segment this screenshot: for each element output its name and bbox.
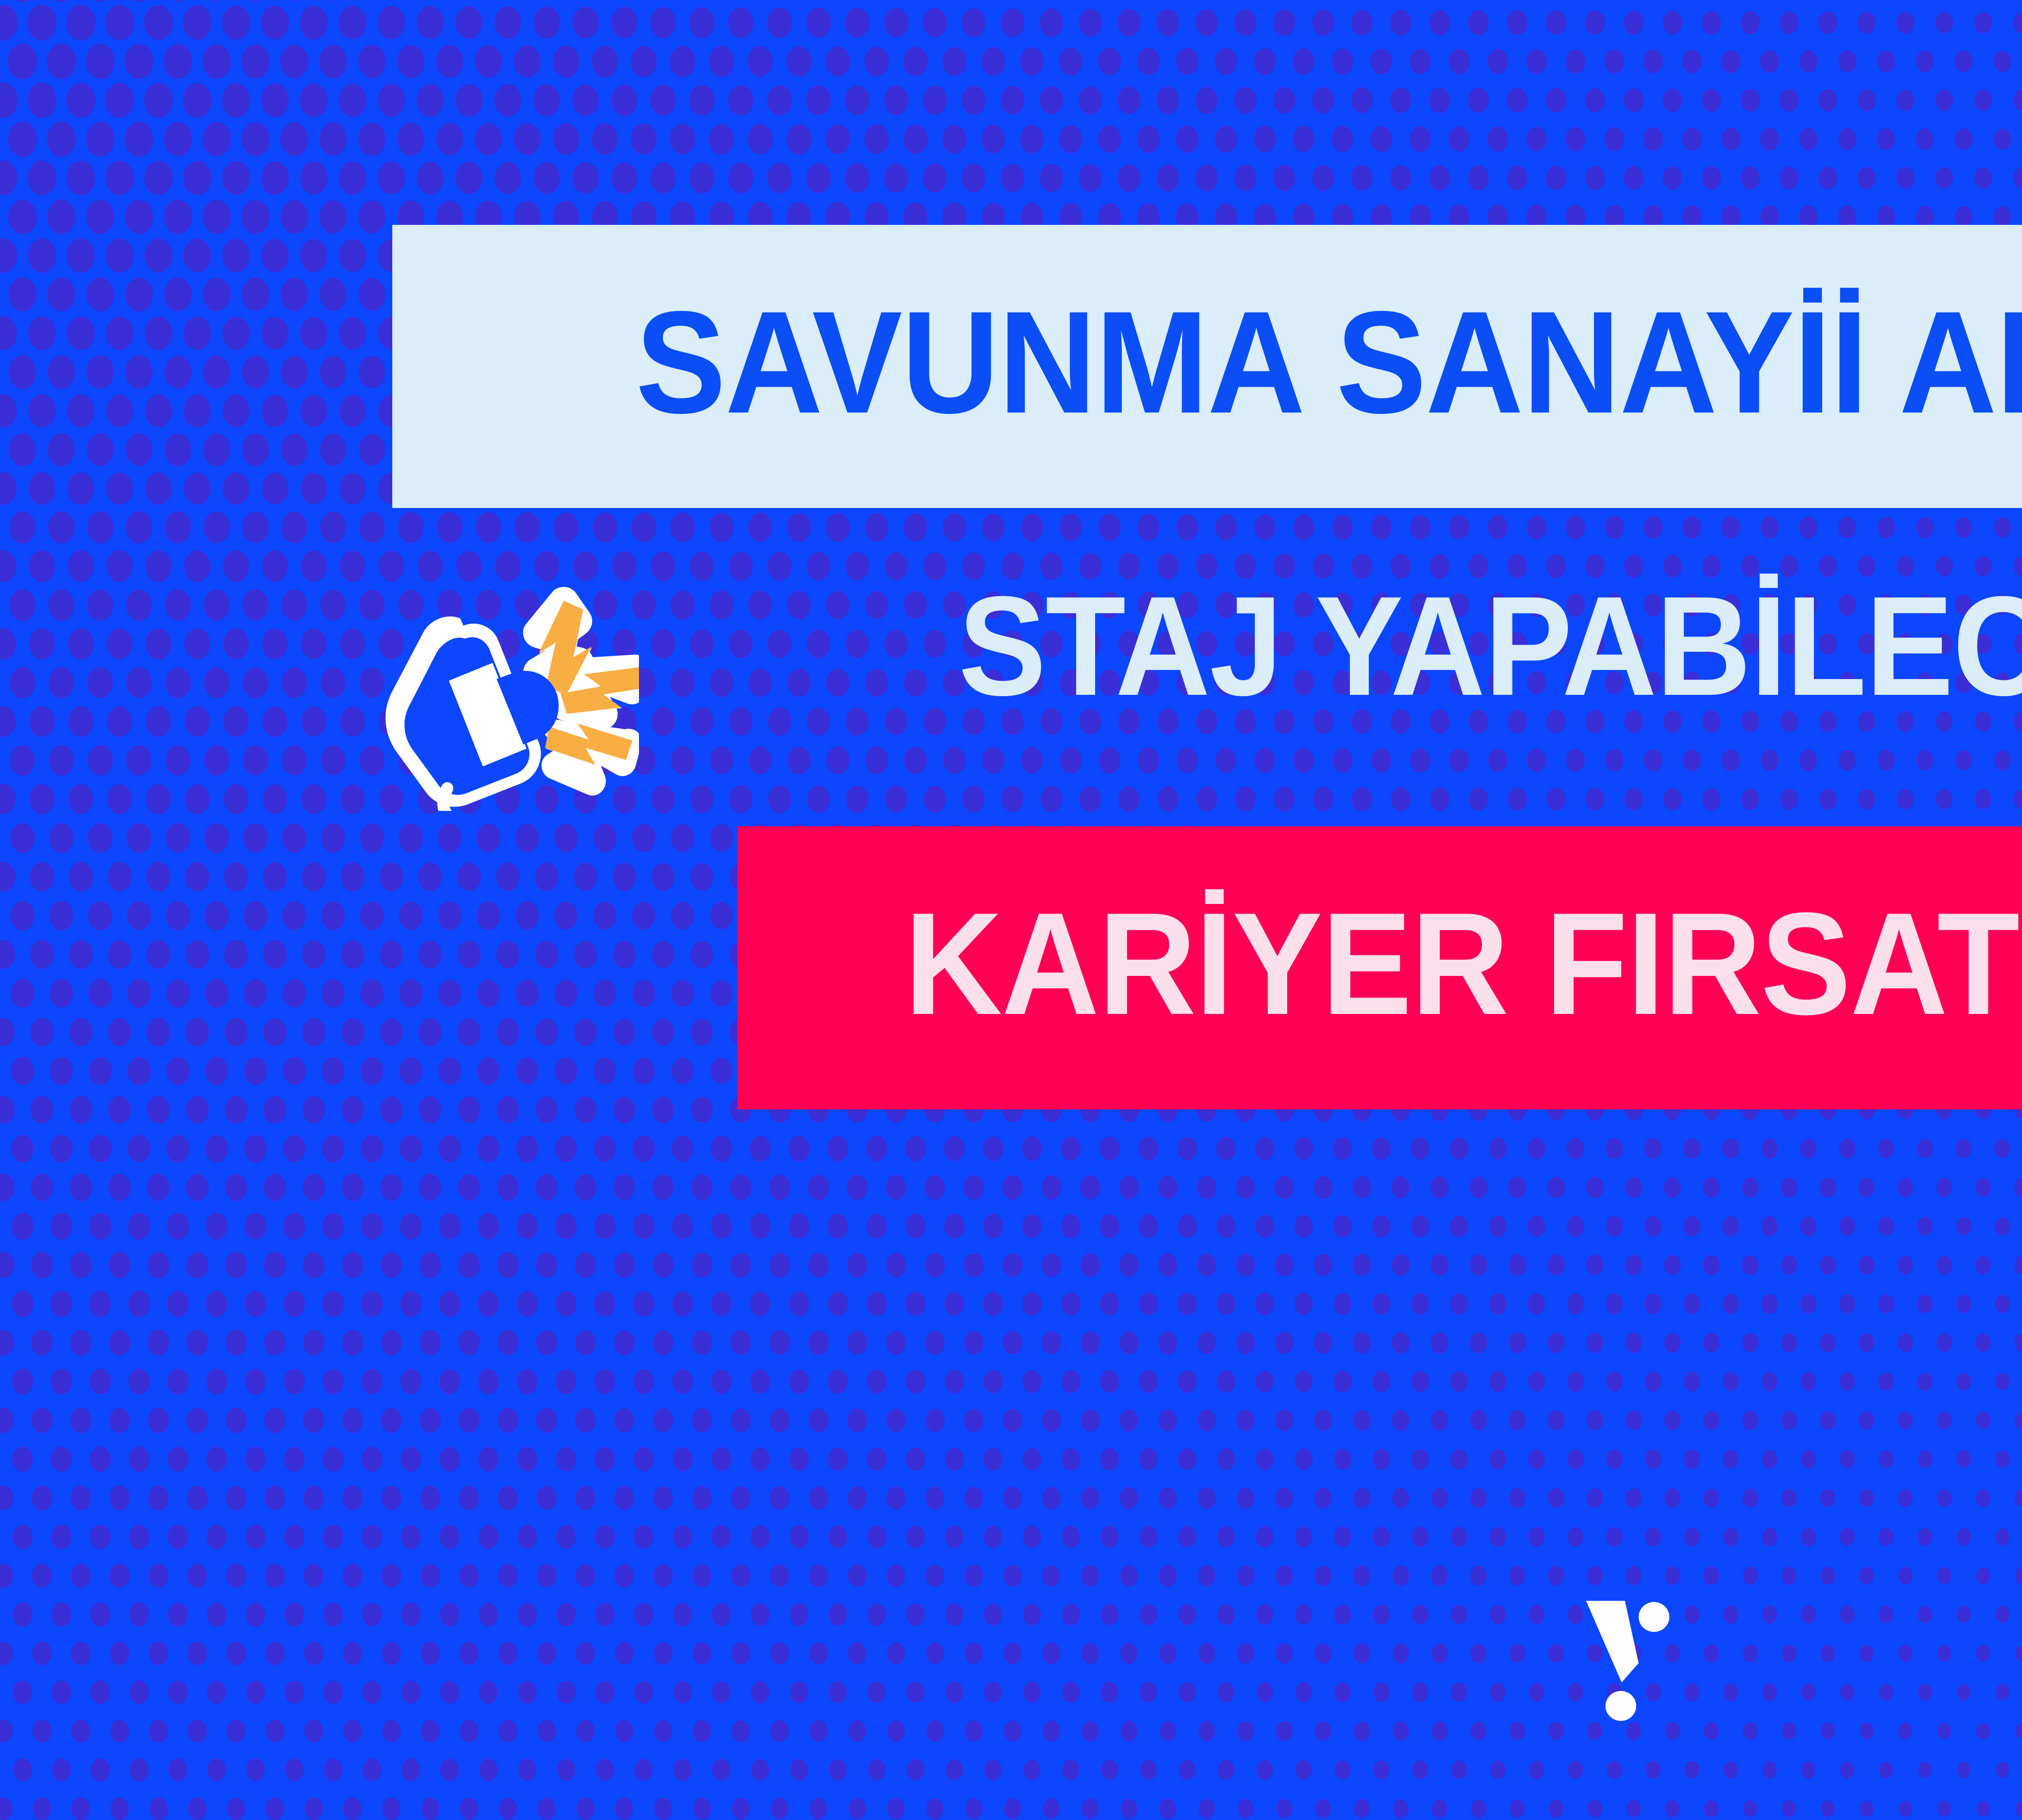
poster-canvas: SAVUNMA SANAYİİ ALANINDA STAJ YAPABİLECE… (0, 0, 2022, 1820)
headline-line-2-panel: STAJ YAPABİLECEĞİN (752, 562, 2022, 732)
youthall-v-logo (1553, 1589, 1686, 1723)
headline-stack: SAVUNMA SANAYİİ ALANINDA STAJ YAPABİLECE… (0, 0, 2022, 1820)
headline-line-2-text: STAJ YAPABİLECEĞİN (958, 588, 2022, 707)
headline-line-3-text: KARİYER FIRSATLARI (905, 904, 2022, 1031)
headline-line-1-text: SAVUNMA SANAYİİ ALANINDA (636, 303, 2022, 430)
headline-line-1-panel: SAVUNMA SANAYİİ ALANINDA (392, 225, 2022, 508)
megaphone-icon (356, 576, 639, 811)
headline-line-3-panel: KARİYER FIRSATLARI (737, 826, 2022, 1109)
